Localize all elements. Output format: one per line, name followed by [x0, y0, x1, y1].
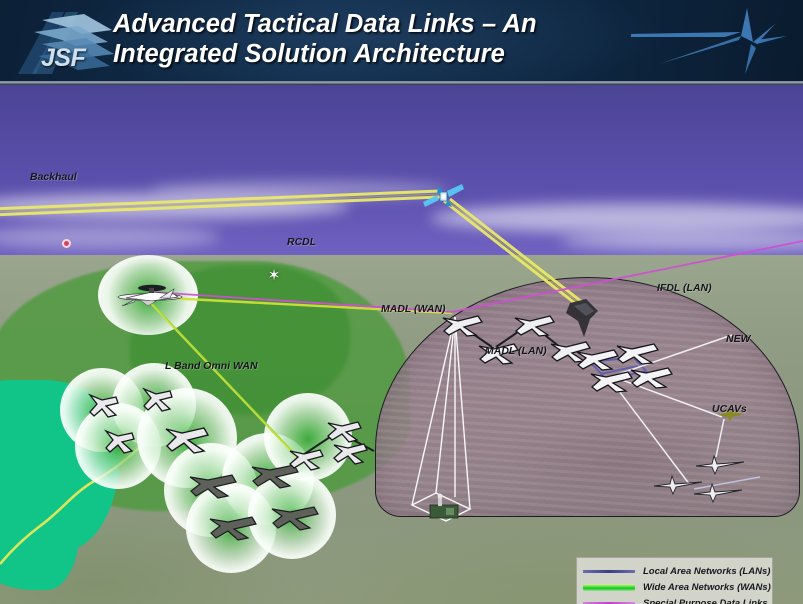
slide-root: JSF Advanced Tactical Data Links – An In… — [0, 0, 803, 604]
cloud-band — [150, 181, 450, 199]
cloud-band — [0, 193, 350, 219]
jsf-logo-text: JSF — [41, 44, 85, 73]
fighter-aircraft-icon — [286, 443, 326, 476]
label-ucavs: UCAVs — [712, 403, 747, 415]
awacs-aircraft-icon — [112, 275, 190, 316]
scene-map: ✶ — [0, 85, 803, 604]
fighter-aircraft-icon — [162, 421, 212, 460]
legend-item-special: Special Purpose Data Links — [583, 595, 766, 604]
satellite-icon — [420, 180, 466, 214]
radar-ground-site-icon — [424, 489, 466, 528]
capital-city-star-icon: ✶ — [265, 267, 283, 285]
cloud-band — [0, 225, 220, 249]
fighter-aircraft-icon — [102, 427, 138, 462]
f22-aircraft-icon — [628, 361, 674, 394]
fighter-aircraft-icon — [140, 385, 176, 420]
lockheed-martin-star-icon — [629, 6, 789, 78]
legend-item-wan: Wide Area Networks (WANs) — [583, 579, 766, 595]
legend-panel: Local Area Networks (LANs) Wide Area Net… — [576, 557, 773, 604]
jsf-logo: JSF — [12, 4, 117, 82]
label-l-band-omni-wan: L Band Omni WAN — [165, 360, 258, 372]
ucav-aircraft-icon — [652, 473, 704, 500]
legend-label-special: Special Purpose Data Links — [643, 598, 768, 604]
label-madl-lan: MADL (LAN) — [485, 345, 547, 357]
teal-landmass-region — [0, 485, 80, 590]
cloud-band — [430, 203, 803, 233]
legend-item-lan: Local Area Networks (LANs) — [583, 563, 766, 579]
fighter-aircraft-icon — [268, 499, 320, 536]
label-rcdl: RCDL — [287, 236, 316, 248]
page-title-line2: Integrated Solution Architecture — [113, 39, 633, 69]
fighter-aircraft-icon — [330, 437, 370, 470]
page-title: Advanced Tactical Data Links – An Integr… — [113, 9, 633, 69]
legend-label-lan: Local Area Networks (LANs) — [643, 566, 770, 577]
legend-label-wan: Wide Area Networks (WANs) — [643, 582, 771, 593]
fighter-aircraft-icon — [206, 509, 258, 546]
page-title-line1: Advanced Tactical Data Links – An — [113, 9, 633, 39]
city-marker-dot — [62, 239, 71, 248]
label-new: NEW — [726, 333, 751, 345]
fighter-aircraft-icon — [86, 391, 122, 426]
cloud-band — [560, 231, 803, 251]
fighter-aircraft-icon — [186, 467, 238, 504]
label-madl-wan: MADL (WAN) — [381, 303, 446, 315]
label-ifdl-lan: IFDL (LAN) — [657, 282, 712, 294]
label-backhaul: Backhaul — [30, 171, 77, 183]
legend-swatch-wan-icon — [583, 584, 635, 591]
legend-swatch-lan-icon — [583, 570, 635, 573]
slide-header: JSF Advanced Tactical Data Links – An In… — [0, 0, 803, 85]
lockheed-martin-logo — [629, 6, 789, 78]
